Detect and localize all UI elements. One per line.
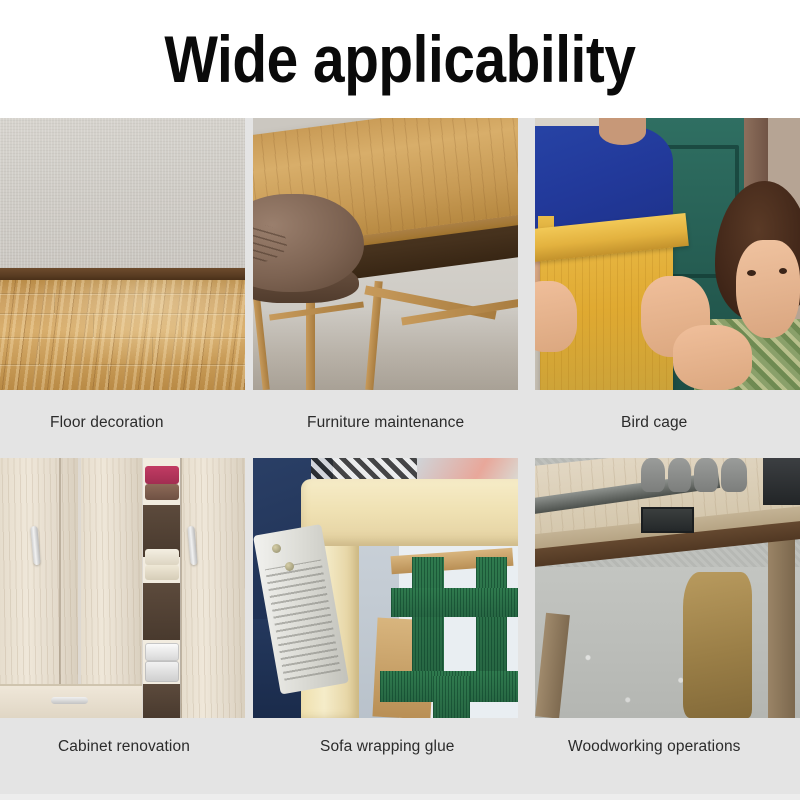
child-forearm (673, 325, 753, 390)
power-tool (763, 458, 800, 505)
caption-cabinet-renovation: Cabinet renovation (58, 739, 190, 755)
towel-brown (145, 484, 179, 500)
grid-cell-bird-cage[interactable] (535, 118, 800, 390)
concrete-floor (535, 567, 800, 718)
cabinet-door-right (181, 458, 245, 718)
door-seam (59, 458, 61, 718)
adult-hand (535, 281, 577, 352)
caption-floor-decoration: Floor decoration (50, 415, 164, 431)
work-glove (668, 458, 692, 492)
towel-cream (145, 549, 179, 565)
infographic-page: Wide applicability Floor d (0, 0, 800, 800)
baseboard (0, 268, 245, 280)
shelf-recess (143, 684, 180, 718)
work-glove (641, 458, 665, 492)
cabinet-drawer[interactable] (0, 684, 142, 718)
child-eye (779, 268, 787, 274)
work-glove (694, 458, 718, 492)
work-glove (721, 458, 748, 492)
caption-woodworking-operations: Woodworking operations (568, 739, 741, 755)
photo-cabinet-renovation (0, 458, 245, 718)
grid-cell-cabinet-renovation[interactable] (0, 458, 245, 718)
canvas-cloth (683, 572, 752, 718)
caption-sofa-wrapping-glue: Sofa wrapping glue (320, 739, 455, 755)
photo-bird-cage (535, 118, 800, 390)
storage-box (145, 661, 179, 682)
grid-cell-sofa-wrapping-glue[interactable] (253, 458, 518, 718)
webbing-strap-horizontal (391, 588, 518, 617)
towel-pink (145, 466, 179, 484)
stapler-screw (285, 562, 294, 571)
drawer-handle[interactable] (51, 697, 88, 704)
foam-wrapped-rail (301, 479, 518, 547)
photo-sofa-wrapping-glue (253, 458, 518, 718)
wall-surface (0, 118, 245, 268)
webbing-strap-vertical (433, 676, 470, 718)
floor-highlight (0, 280, 245, 390)
grid-cell-floor-decoration[interactable] (0, 118, 245, 390)
caption-furniture-maintenance: Furniture maintenance (307, 415, 464, 431)
title-bar: Wide applicability (0, 0, 800, 118)
steel-square-tube (641, 507, 694, 533)
cabinet-door-left (0, 458, 78, 718)
grid-cell-woodworking-operations[interactable] (535, 458, 800, 718)
storage-box (145, 643, 179, 661)
caption-bird-cage: Bird cage (621, 415, 687, 431)
stapler-screw (272, 544, 281, 553)
towel-cream (145, 565, 179, 581)
cabinet-door-middle (81, 458, 142, 718)
panel-bottom-strip (0, 794, 800, 800)
photo-floor-decoration (0, 118, 245, 390)
page-title: Wide applicability (164, 26, 635, 92)
door-seam (180, 458, 182, 718)
trestle-leg-right (768, 536, 795, 718)
child-face (736, 240, 800, 338)
shelf-recess (143, 583, 180, 640)
floor-shadow (253, 308, 518, 390)
open-shelf-column (143, 458, 180, 718)
photo-woodworking-operations (535, 458, 800, 718)
photo-furniture-maintenance (253, 118, 518, 390)
grid-cell-furniture-maintenance[interactable] (253, 118, 518, 390)
